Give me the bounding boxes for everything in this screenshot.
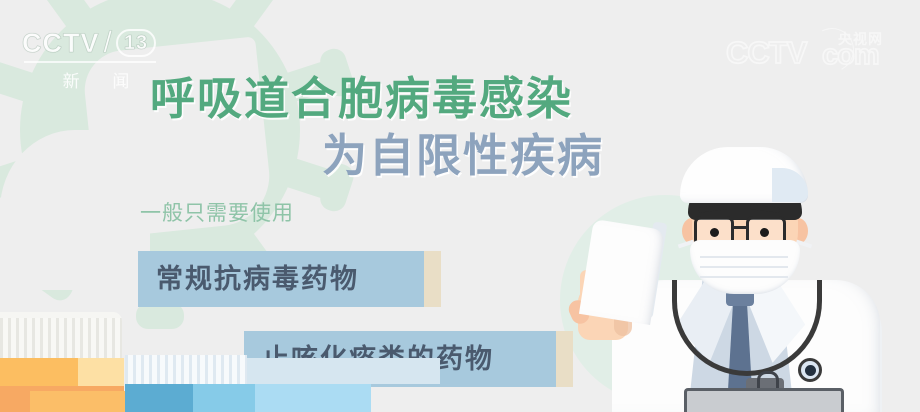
virus-spike — [36, 225, 97, 293]
headline-subline: 一般只需要使用 — [140, 203, 294, 224]
cap-ridges — [125, 355, 247, 385]
blue-bottle-body — [125, 384, 371, 412]
logo-cctv-text: CCTV — [22, 30, 100, 57]
callout-bar-1-accent-strip — [424, 251, 441, 307]
callout-bar-1-text: 常规抗病毒药物 — [156, 266, 359, 293]
virus-spike — [0, 155, 43, 203]
glasses-bridge — [734, 226, 748, 229]
logo-slash: / — [104, 28, 113, 58]
virus-cutout — [0, 130, 150, 290]
blue-bottle-backplate — [240, 358, 440, 384]
coat-sleeve — [579, 219, 665, 325]
doctor-eye-left — [710, 228, 719, 237]
virus-spike — [223, 0, 284, 35]
blue-bottle-segment — [193, 384, 255, 412]
doctor-eye-right — [760, 228, 769, 237]
headline-line-1: 呼吸道合胞病毒感染 — [150, 76, 573, 121]
mask-pleat — [700, 266, 788, 268]
doctor-illustration — [560, 130, 920, 412]
blue-bottle-segment — [125, 384, 193, 412]
blue-bottle-cap — [125, 355, 247, 385]
mask-pleat — [700, 276, 788, 278]
doctor-clipboard — [684, 388, 844, 412]
blue-bottle-segment — [255, 384, 371, 412]
stethoscope-chestpiece — [798, 358, 822, 382]
cctv-com-watermark: CCTV 央视网 com — [726, 26, 906, 70]
logo-wordmark: CCTV / 13 — [22, 28, 172, 58]
orange-bottle-label-highlight — [30, 391, 136, 412]
broadcast-graphic-frame: CCTV / 13 新 闻 CCTV 央视网 com 呼吸道合胞病毒感染 为自限… — [0, 0, 920, 412]
watermark-com-text: com — [822, 39, 879, 72]
mask-pleat — [700, 256, 788, 258]
cap-ridges — [0, 318, 122, 360]
orange-bottle-cap — [0, 312, 122, 360]
logo-divider — [24, 61, 156, 63]
virus-spike — [145, 0, 175, 2]
callout-bar-1-fill: 常规抗病毒药物 — [138, 251, 424, 307]
logo-channel-number: 13 — [116, 29, 156, 57]
watermark-cctv-text: CCTV — [726, 35, 806, 71]
callout-bar-1: 常规抗病毒药物 — [138, 251, 441, 307]
